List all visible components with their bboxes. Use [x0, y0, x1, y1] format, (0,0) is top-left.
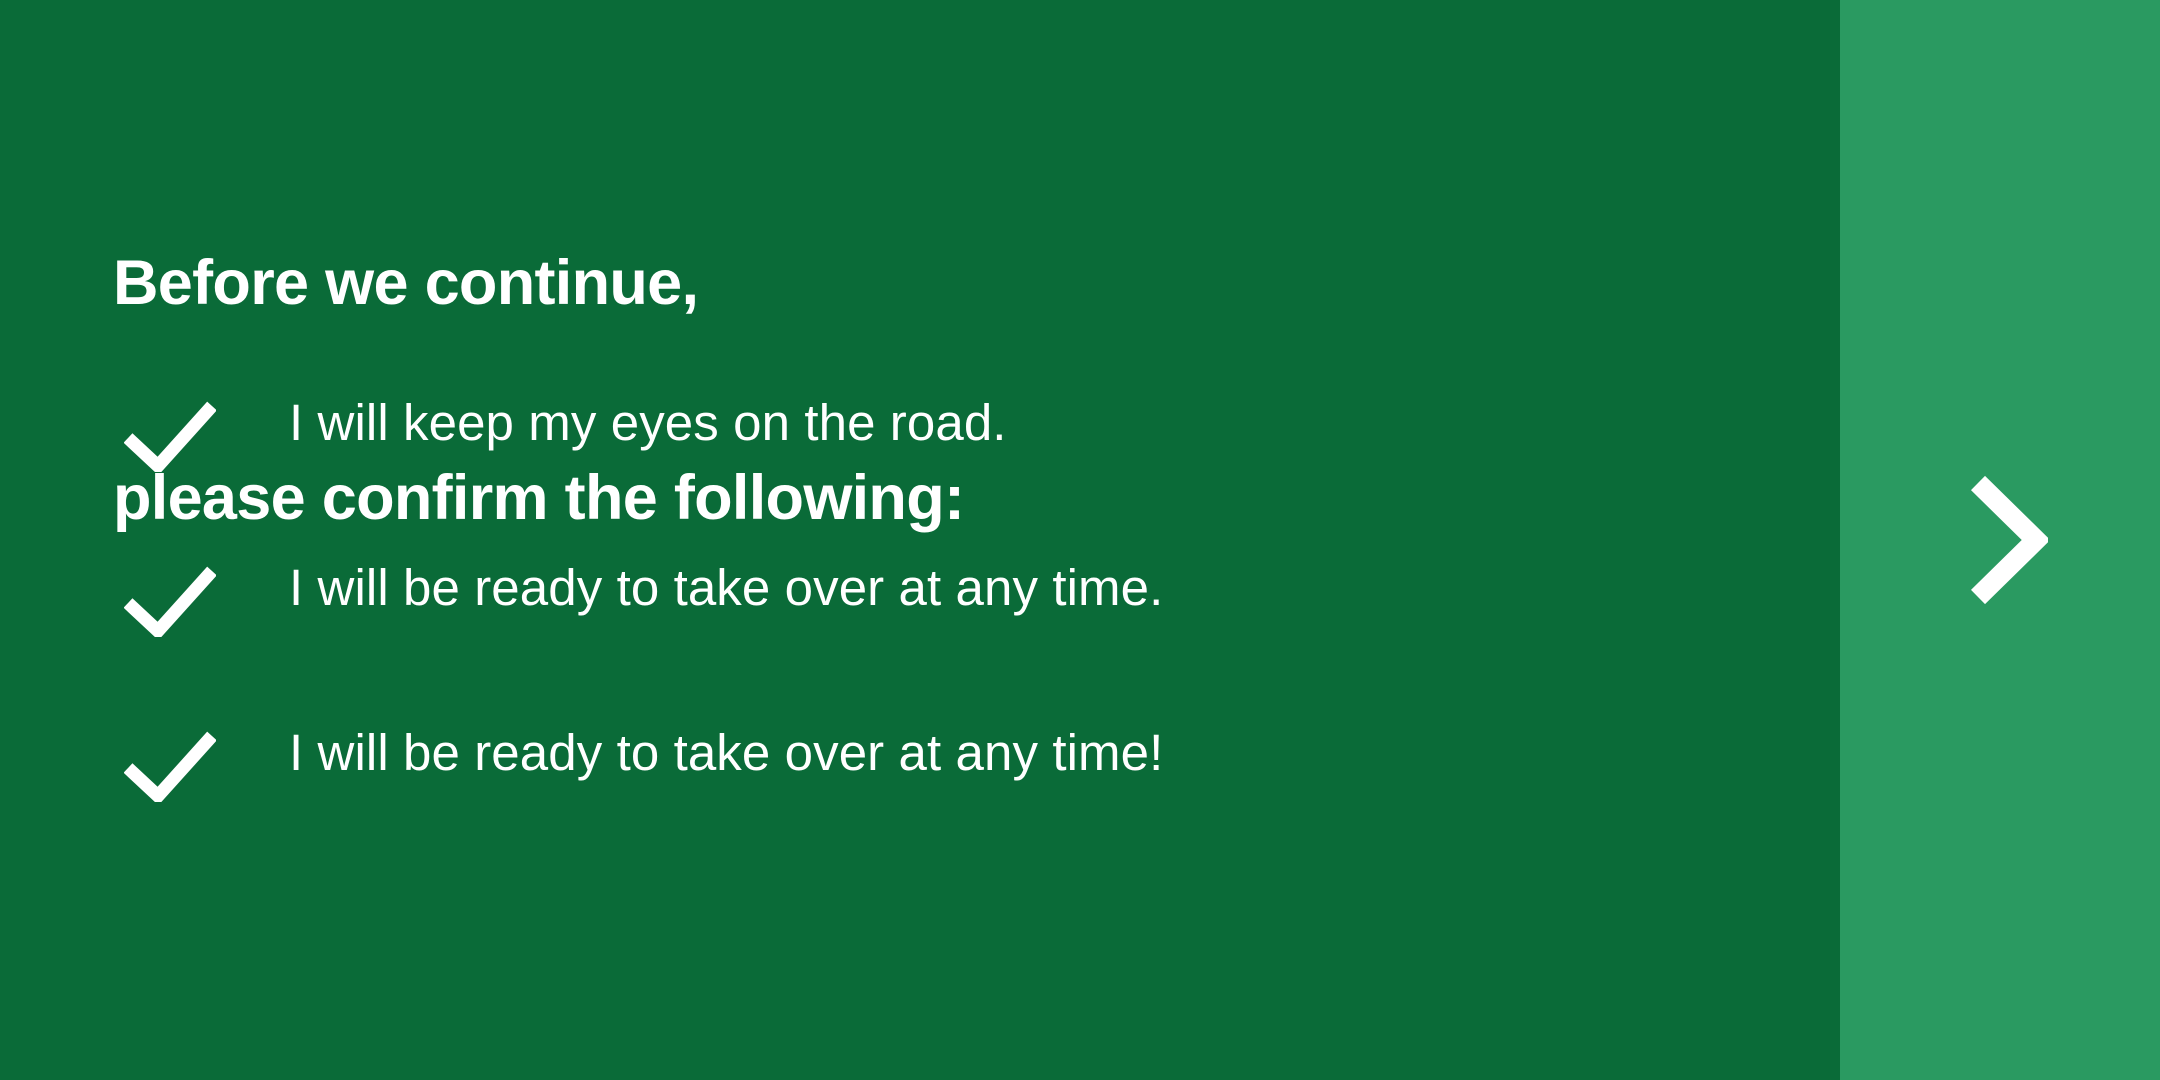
page-title-line-1: Before we continue,	[113, 248, 964, 320]
next-button[interactable]	[1840, 0, 2160, 1080]
chevron-right-icon	[1952, 475, 2048, 605]
checkmark-icon	[124, 565, 216, 637]
checklist-item-3[interactable]: I will be ready to take over at any time…	[0, 716, 1840, 881]
confirmation-screen: Before we continue, please confirm the f…	[0, 0, 2160, 1080]
checkmark-icon	[124, 730, 216, 802]
checklist-item-label: I will keep my eyes on the road.	[289, 386, 1007, 460]
checklist-item-label: I will be ready to take over at any time…	[289, 716, 1163, 790]
checkmark-icon	[124, 400, 216, 472]
checklist-item-2[interactable]: I will be ready to take over at any time…	[0, 551, 1840, 716]
checklist-item-label: I will be ready to take over at any time…	[289, 551, 1163, 625]
confirmation-checklist: I will keep my eyes on the road. I will …	[0, 386, 1840, 881]
checklist-item-1[interactable]: I will keep my eyes on the road.	[0, 386, 1840, 551]
main-panel: Before we continue, please confirm the f…	[0, 0, 1840, 1080]
